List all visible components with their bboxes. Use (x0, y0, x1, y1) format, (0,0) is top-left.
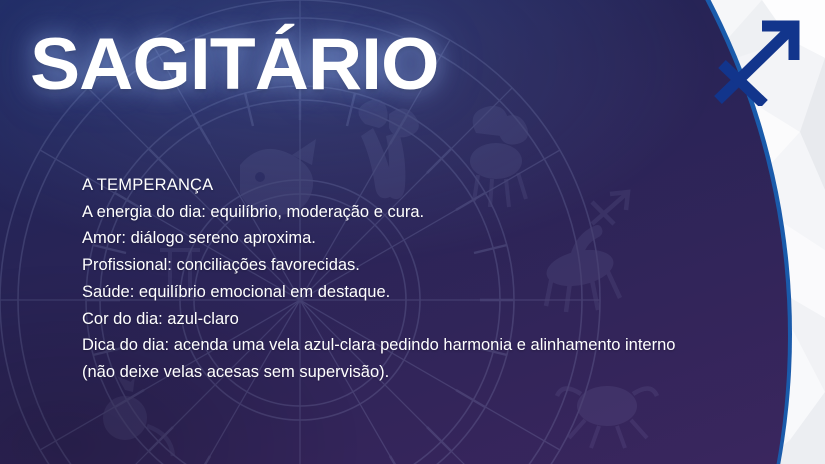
horoscope-text: A TEMPERANÇA A energia do dia: equilíbri… (82, 172, 708, 386)
horoscope-line-tip: Dica do dia: acenda uma vela azul-clara … (82, 332, 708, 385)
horoscope-line-career: Profissional: conciliações favorecidas. (82, 252, 708, 279)
sagittarius-arrow-icon (712, 18, 808, 106)
page-title: SAGITÁRIO (30, 28, 438, 101)
horoscope-card: SAGITÁRIO A TEMPERANÇA A energia do dia:… (0, 0, 825, 464)
horoscope-line-tarot: A TEMPERANÇA (82, 172, 708, 199)
horoscope-line-energy: A energia do dia: equilíbrio, moderação … (82, 199, 708, 226)
horoscope-line-health: Saúde: equilíbrio emocional em destaque. (82, 279, 708, 306)
horoscope-line-love: Amor: diálogo sereno aproxima. (82, 225, 708, 252)
horoscope-line-color: Cor do dia: azul-claro (82, 306, 708, 333)
